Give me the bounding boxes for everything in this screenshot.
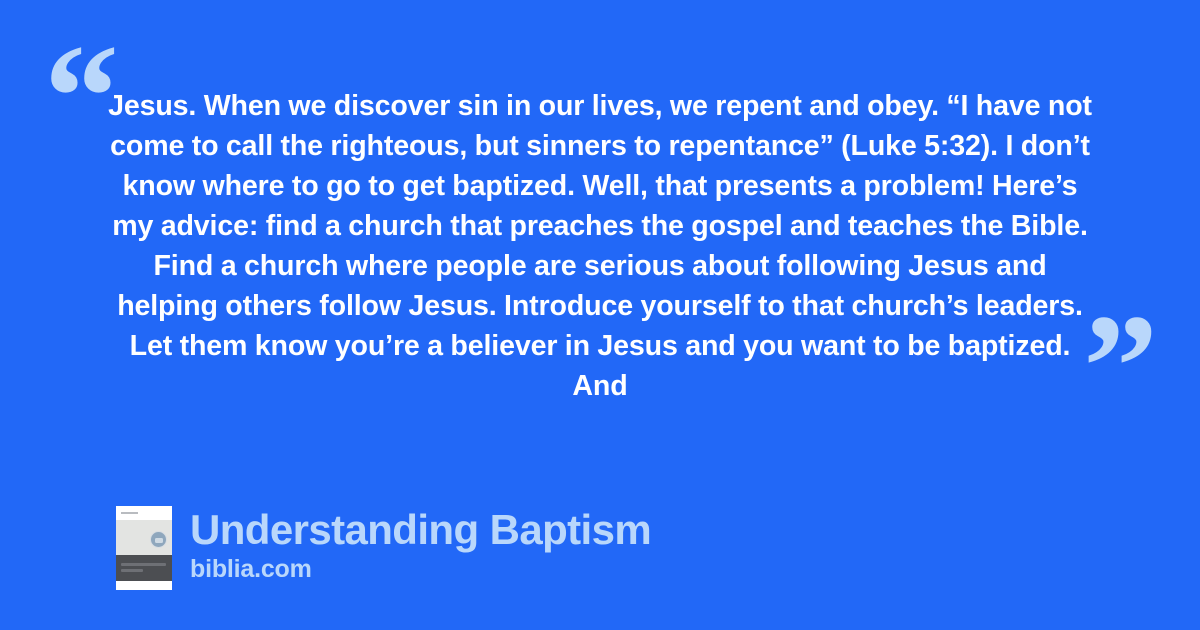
thumbnail-header-line xyxy=(121,512,138,514)
thumbnail-body-panel xyxy=(116,520,172,555)
quote-card: “ Jesus. When we discover sin in our liv… xyxy=(0,0,1200,630)
seal-inner-shape xyxy=(155,538,163,543)
opening-quote-icon: “ xyxy=(44,22,117,172)
thumbnail-header-strip xyxy=(116,506,172,520)
footer-text-block: Understanding Baptism biblia.com xyxy=(190,506,651,584)
thumbnail-title-line-2 xyxy=(121,569,143,572)
thumbnail-title-band xyxy=(116,555,172,581)
thumbnail-title-line-1 xyxy=(121,563,166,566)
footer-attribution: Understanding Baptism biblia.com xyxy=(116,506,651,590)
thumbnail-footer-strip xyxy=(116,581,172,590)
book-title[interactable]: Understanding Baptism xyxy=(190,508,651,552)
book-cover-thumbnail xyxy=(116,506,172,590)
closing-quote-icon: ” xyxy=(1083,292,1156,442)
quote-text: Jesus. When we discover sin in our lives… xyxy=(108,86,1092,406)
site-name[interactable]: biblia.com xyxy=(190,554,651,584)
circular-seal-icon xyxy=(150,531,167,548)
